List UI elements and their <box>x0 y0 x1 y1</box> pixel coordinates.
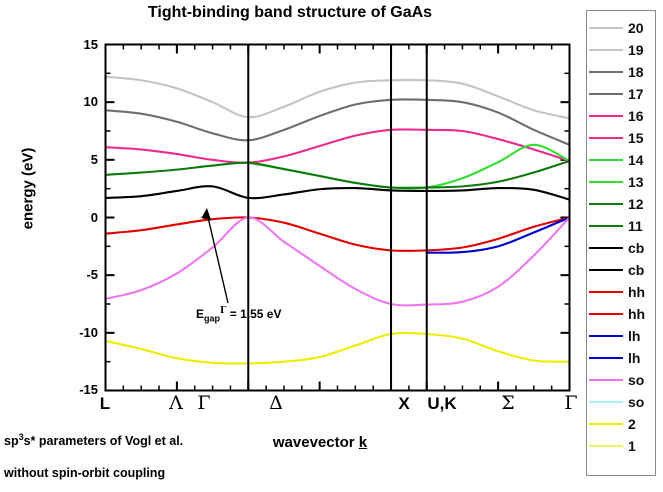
legend-item-label: so <box>628 395 644 409</box>
x-axis-label-vector: k <box>359 434 367 451</box>
band-gap-arrow <box>201 207 228 303</box>
legend-color-swatch <box>589 379 623 381</box>
legend-item[interactable]: 1 <box>587 435 655 457</box>
footnote-parameters: sp3s* parameters of Vogl et al. <box>4 432 183 448</box>
legend-item[interactable]: hh <box>587 303 655 325</box>
band-structure-figure: Tight-binding band structure of GaAs ene… <box>0 0 663 492</box>
y-tick-label--10: -10 <box>62 325 98 340</box>
legend-item-label: hh <box>628 307 645 321</box>
plot-frame <box>106 45 570 391</box>
x-tick-label-L: L <box>75 394 135 414</box>
legend-item-label: so <box>628 373 644 387</box>
legend-item-label: lh <box>628 351 640 365</box>
legend-color-swatch <box>589 115 623 117</box>
x-axis-label-text: wavevector <box>273 434 359 451</box>
plot-canvas <box>0 0 663 492</box>
legend-item[interactable]: 14 <box>587 149 655 171</box>
legend-item-label: 15 <box>628 131 644 145</box>
legend-item[interactable]: lh <box>587 347 655 369</box>
legend-item-label: cb <box>628 241 644 255</box>
legend-item-label: 1 <box>628 439 636 453</box>
band-gap-annotation: EgapΓ = 1.55 eV <box>196 306 281 323</box>
legend-color-swatch <box>589 423 623 425</box>
band-curve-lh <box>427 218 570 253</box>
legend-color-swatch <box>589 93 623 95</box>
legend-color-swatch <box>589 203 623 205</box>
y-tick-label-10: 10 <box>62 94 98 109</box>
legend-item-label: 17 <box>628 87 644 101</box>
page-title: Tight-binding band structure of GaAs <box>0 4 580 22</box>
legend-item-label: hh <box>628 285 645 299</box>
band-curve-cb <box>106 186 570 199</box>
legend-color-swatch <box>589 137 623 139</box>
legend-item[interactable]: hh <box>587 281 655 303</box>
legend-item[interactable]: cb <box>587 259 655 281</box>
y-tick-label-15: 15 <box>62 37 98 52</box>
legend-color-swatch <box>589 335 623 337</box>
y-tick-label-0: 0 <box>62 210 98 225</box>
footnote-spin-orbit: without spin-orbit coupling <box>4 466 165 480</box>
legend-color-swatch <box>589 269 623 271</box>
legend-item-label: cb <box>628 263 644 277</box>
y-axis-label: energy (eV) <box>20 109 37 269</box>
band-gap-subscript: gap <box>204 313 220 323</box>
legend-color-swatch <box>589 445 623 447</box>
band-gap-value: = 1.55 eV <box>226 307 281 321</box>
band-curve-so <box>106 217 570 305</box>
legend-color-swatch <box>589 27 623 29</box>
legend-color-swatch <box>589 181 623 183</box>
footnote-parameters-a: sp <box>4 434 19 448</box>
legend-item-label: 13 <box>628 175 644 189</box>
footnote-parameters-b: s* parameters of Vogl et al. <box>24 434 184 448</box>
legend-item[interactable]: 15 <box>587 127 655 149</box>
band-curve-12 <box>106 161 570 188</box>
y-tick-label-5: 5 <box>62 152 98 167</box>
legend-item[interactable]: 2 <box>587 413 655 435</box>
legend-item-label: 16 <box>628 109 644 123</box>
legend-item[interactable]: 16 <box>587 105 655 127</box>
legend-item-label: 14 <box>628 153 644 167</box>
legend-color-swatch <box>589 357 623 359</box>
y-tick-label--5: -5 <box>62 267 98 282</box>
band-curve-14 <box>248 145 569 189</box>
legend-item[interactable]: 20 <box>587 17 655 39</box>
legend-item-label: lh <box>628 329 640 343</box>
legend-item[interactable]: 19 <box>587 39 655 61</box>
legend-item[interactable]: 11 <box>587 215 655 237</box>
band-curve-16 <box>106 129 570 162</box>
band-curves <box>106 77 570 364</box>
legend-item[interactable]: 13 <box>587 171 655 193</box>
legend-color-swatch <box>589 247 623 249</box>
legend-color-swatch <box>589 401 623 403</box>
legend-item[interactable]: 18 <box>587 61 655 83</box>
legend-item[interactable]: cb <box>587 237 655 259</box>
legend-color-swatch <box>589 291 623 293</box>
band-curve-18 <box>106 99 570 144</box>
symmetry-point-lines <box>248 45 426 391</box>
axis-ticks <box>106 45 570 391</box>
legend-color-swatch <box>589 225 623 227</box>
legend-color-swatch <box>589 313 623 315</box>
legend-color-swatch <box>589 71 623 73</box>
legend-color-swatch <box>589 159 623 161</box>
x-tick-label-Delta: Δ <box>246 392 306 414</box>
legend-item-label: 12 <box>628 197 644 211</box>
legend-item-label: 18 <box>628 65 644 79</box>
legend-item-label: 11 <box>628 219 643 233</box>
legend-item-label: 2 <box>628 417 636 431</box>
x-tick-label-Sigma: Σ <box>478 392 538 414</box>
legend-item[interactable]: lh <box>587 325 655 347</box>
legend-item[interactable]: so <box>587 391 655 413</box>
x-tick-label-UK: U,K <box>412 394 472 414</box>
band-gap-symbol: E <box>196 307 204 321</box>
legend-item[interactable]: 17 <box>587 83 655 105</box>
legend-color-swatch <box>589 49 623 51</box>
legend-item[interactable]: 12 <box>587 193 655 215</box>
legend-item-label: 19 <box>628 43 644 57</box>
x-axis-label: wavevector k <box>170 434 470 451</box>
legend-item-label: 20 <box>628 21 644 35</box>
legend: 20191817161514131211cbcbhhhhlhlhsoso21 <box>586 10 656 476</box>
band-curve-hh <box>106 217 570 251</box>
x-tick-label-Gamma1: Γ <box>174 392 234 414</box>
legend-item[interactable]: so <box>587 369 655 391</box>
band-curve-20 <box>106 77 570 119</box>
band-curve-2 <box>106 333 570 364</box>
